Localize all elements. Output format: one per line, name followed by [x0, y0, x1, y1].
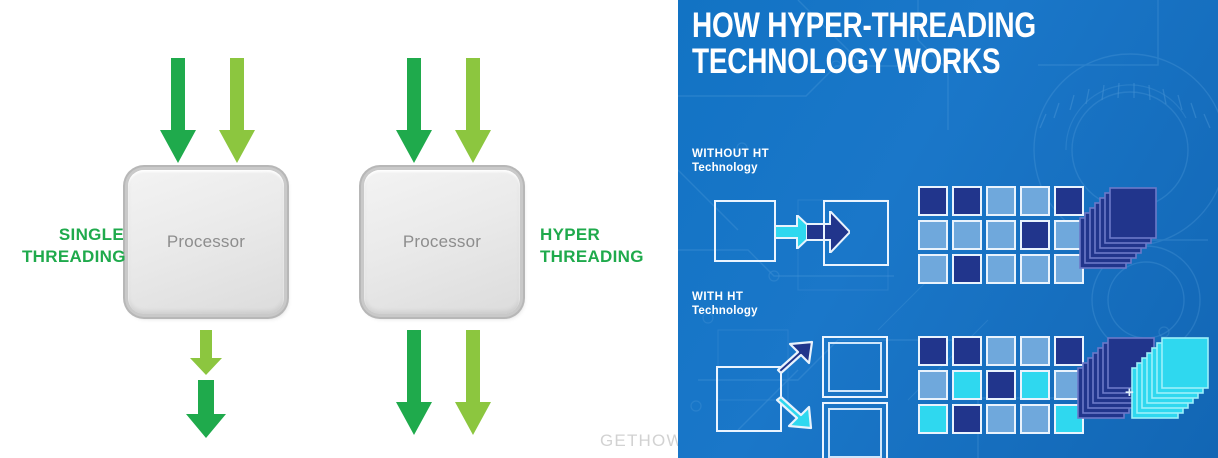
left-diagram-panel: Processor Processor SINGLE THREADING HY — [0, 0, 678, 458]
processor-label: Processor — [403, 232, 481, 252]
grid-without-ht-cell-1-2 — [986, 220, 1016, 250]
grid-without-ht-cell-1-0 — [918, 220, 948, 250]
section-label-with-ht: WITH HT Technology — [692, 291, 758, 318]
flow-arrow-navy-with-ht — [774, 340, 814, 378]
card-stack-cyan — [1130, 336, 1210, 420]
label-single-threading: SINGLE THREADING — [22, 224, 124, 268]
grid-with-ht-cell-0-2 — [986, 336, 1016, 366]
grid-with-ht-cell-0-0 — [918, 336, 948, 366]
single-input-arrow-light — [219, 58, 255, 163]
source-box-without-ht — [714, 200, 776, 262]
target-box-top-with-ht — [822, 336, 888, 398]
grid-with-ht-cell-1-2 — [986, 370, 1016, 400]
single-output-arrow-light — [190, 330, 222, 375]
single-output-arrow-dark — [186, 380, 226, 438]
task-stack-without-ht — [1078, 186, 1158, 275]
plus-sign: + — [1125, 384, 1134, 401]
grid-without-ht-cell-1-3 — [1020, 220, 1050, 250]
hyper-threading-illustration: Processor Processor SINGLE THREADING HY — [0, 0, 1218, 458]
section-label-line1: WITHOUT HT — [692, 148, 769, 161]
grid-with-ht-cell-2-0 — [918, 404, 948, 434]
grid-with-ht-cell-2-2 — [986, 404, 1016, 434]
thread-grid-with-ht — [918, 336, 1084, 434]
grid-with-ht-cell-1-0 — [918, 370, 948, 400]
grid-without-ht-cell-0-2 — [986, 186, 1016, 216]
grid-without-ht-cell-2-1 — [952, 254, 982, 284]
task-stack-cyan-with-ht — [1130, 336, 1210, 425]
grid-with-ht-cell-0-3 — [1020, 336, 1050, 366]
grid-with-ht-cell-1-1 — [952, 370, 982, 400]
grid-without-ht-cell-2-3 — [1020, 254, 1050, 284]
grid-without-ht-cell-2-2 — [986, 254, 1016, 284]
section-label-line1: WITH HT — [692, 291, 758, 304]
hyper-output-arrow-light — [455, 330, 491, 435]
flow-arrow-cyan-with-ht — [774, 392, 814, 430]
infographic-title: HOW HYPER-THREADING TECHNOLOGY WORKS — [692, 8, 1036, 80]
intel-infographic-panel: HOW HYPER-THREADING TECHNOLOGY WORKS WIT… — [678, 0, 1218, 458]
single-input-arrow-dark — [160, 58, 196, 163]
processor-label: Processor — [167, 232, 245, 252]
source-box-with-ht — [716, 366, 782, 432]
grid-without-ht-cell-0-0 — [918, 186, 948, 216]
processor-box-hyper: Processor — [364, 170, 520, 314]
grid-without-ht-cell-2-0 — [918, 254, 948, 284]
target-box-bottom-inner — [828, 408, 882, 458]
target-box-bottom-with-ht — [822, 402, 888, 458]
grid-with-ht-cell-2-3 — [1020, 404, 1050, 434]
grid-with-ht-cell-0-1 — [952, 336, 982, 366]
hyper-input-arrow-light — [455, 58, 491, 163]
gethow-watermark: GETHOW — [600, 431, 684, 451]
target-box-top-inner — [828, 342, 882, 392]
grid-with-ht-cell-1-3 — [1020, 370, 1050, 400]
target-box-without-ht — [823, 200, 889, 266]
grid-without-ht-cell-1-1 — [952, 220, 982, 250]
grid-without-ht-cell-0-1 — [952, 186, 982, 216]
section-label-line2: Technology — [692, 304, 758, 318]
card-stack-navy — [1078, 186, 1158, 270]
label-hyper-threading: HYPER THREADING — [540, 224, 656, 268]
processor-box-single: Processor — [128, 170, 284, 314]
thread-grid-without-ht — [918, 186, 1084, 284]
hyper-output-arrow-dark — [396, 330, 432, 435]
section-label-without-ht: WITHOUT HT Technology — [692, 148, 769, 175]
grid-with-ht-cell-2-1 — [952, 404, 982, 434]
grid-without-ht-cell-0-3 — [1020, 186, 1050, 216]
section-label-line2: Technology — [692, 161, 769, 175]
hyper-input-arrow-dark — [396, 58, 432, 163]
